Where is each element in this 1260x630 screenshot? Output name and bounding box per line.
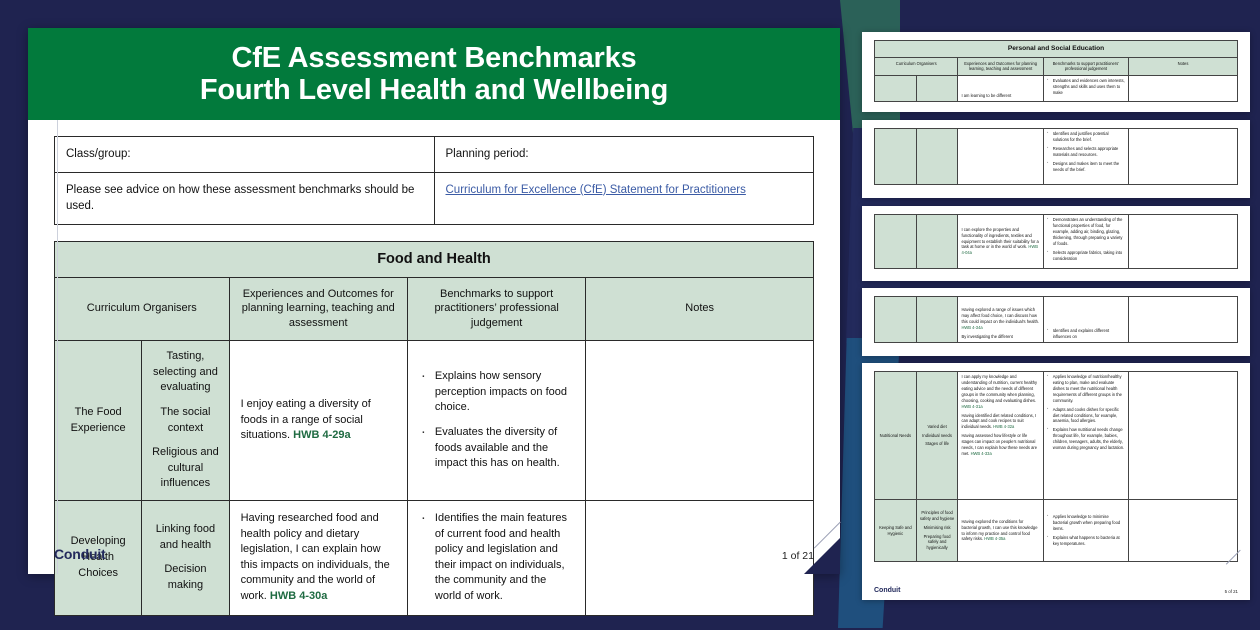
mini-table-row: I can explore the properties and functio…: [875, 215, 1238, 269]
mini-table-row: Identifies and justifies potential solut…: [875, 129, 1238, 185]
mini-table-row: Having explored a range of issues which …: [875, 297, 1238, 343]
mini-table: Nutritional Needs Varied diet Individual…: [874, 371, 1238, 562]
mini-experience: Having explored a range of issues which …: [958, 297, 1043, 343]
mini-notes: [1129, 297, 1238, 343]
mini-organiser: [875, 297, 917, 343]
page-thumbnail-stack: Personal and Social Education Curriculum…: [862, 10, 1250, 600]
mini-page-footer: Conduit 5 of 21: [874, 587, 1238, 594]
experience-code: HWB 4-30a: [270, 590, 327, 602]
section-title: Food and Health: [55, 242, 814, 278]
page-fragment[interactable]: Having explored a range of issues which …: [862, 288, 1250, 356]
page-fragment[interactable]: Personal and Social Education Curriculum…: [862, 32, 1250, 112]
mini-benchmark-item: Applies knowledge of nutrition/healthy e…: [1047, 374, 1125, 404]
mini-benchmark-item: Evaluates and evidences own interests, s…: [1047, 78, 1125, 96]
mini-experience-code: HWB 4-32a: [993, 424, 1014, 429]
mini-notes: [1129, 372, 1238, 500]
sub-organiser-item: Tasting, selecting and evaluating: [148, 349, 222, 396]
mini-experience-text-2: By investigating the different: [961, 334, 1039, 340]
mini-experience-code: HWB 4-34a: [961, 325, 982, 330]
advice-cell: Please see advice on how these assessmen…: [55, 172, 435, 224]
mini-experience-code: HWB 4-35a: [984, 536, 1005, 541]
mini-table: Identifies and justifies potential solut…: [874, 128, 1238, 185]
mini-benchmark-item: Identifies and explains different influe…: [1047, 328, 1125, 340]
link-cell: Curriculum for Excellence (CfE) Statemen…: [434, 172, 814, 224]
sub-organiser-item: Decision making: [148, 562, 222, 593]
mini-benchmark-item: Designs and makes item to meet the needs…: [1047, 161, 1125, 173]
col-header-experiences: Experiences and Outcomes for planning le…: [229, 277, 407, 341]
table-row: The Food Experience Tasting, selecting a…: [55, 341, 814, 501]
title-banner: CfE Assessment Benchmarks Fourth Level H…: [28, 28, 840, 120]
mini-benchmark-item: Applies knowledge to minimise bacterial …: [1047, 514, 1125, 532]
mini-experience: I am learning to be different: [958, 75, 1043, 101]
cfe-statement-link[interactable]: Curriculum for Excellence (CfE) Statemen…: [446, 184, 746, 196]
mini-sub-item: Principles of food safety and hygiene: [920, 510, 955, 522]
page-fragment[interactable]: I can explore the properties and functio…: [862, 206, 1250, 281]
mini-sub-item: Varied diet: [920, 424, 955, 430]
mini-notes: [1129, 215, 1238, 269]
mini-col-notes: Notes: [1129, 57, 1238, 75]
mini-experience-code: HWB 4-31a: [961, 404, 982, 409]
mini-benchmark-item: Selects appropriate fabrics, taking into…: [1047, 250, 1125, 262]
mini-benchmark-item: Researches and selects appropriate mater…: [1047, 146, 1125, 158]
mini-benchmark-item: Demonstrates an understanding of the fun…: [1047, 217, 1125, 247]
row-notes[interactable]: [586, 341, 814, 501]
mini-sub-organisers: Principles of food safety and hygiene Mi…: [916, 500, 958, 562]
mini-sub-item: Minimising risk: [920, 525, 955, 531]
page-fragment[interactable]: Identifies and justifies potential solut…: [862, 120, 1250, 198]
mini-experience-code: HWB 4-33a: [971, 451, 992, 456]
document-page-1: CfE Assessment Benchmarks Fourth Level H…: [28, 28, 840, 574]
advice-text: Please see advice on how these assessmen…: [66, 184, 414, 213]
mini-experience-text: I can apply my knowledge and understandi…: [961, 374, 1037, 403]
mini-sub-organisers: Varied diet Individual needs Stages of l…: [916, 372, 958, 500]
row-experience: I enjoy eating a diversity of foods in a…: [229, 341, 407, 501]
mini-benchmark-item: Adapts and cooks dishes for specific die…: [1047, 407, 1125, 425]
mini-notes: [1129, 500, 1238, 562]
mini-sub-item: Preparing food safely and hygienically: [920, 534, 955, 552]
mini-table: I can explore the properties and functio…: [874, 214, 1238, 269]
class-group-cell: Class/group:: [55, 137, 435, 173]
mini-benchmarks: Evaluates and evidences own interests, s…: [1043, 75, 1128, 101]
mini-benchmarks: Applies knowledge of nutrition/healthy e…: [1043, 372, 1128, 500]
page-number: 1 of 21: [782, 550, 814, 562]
mini-table-row: I am learning to be different Evaluates …: [875, 75, 1238, 101]
mini-table: Having explored a range of issues which …: [874, 296, 1238, 343]
mini-benchmarks: Identifies and justifies potential solut…: [1043, 129, 1128, 185]
mini-sub-organiser: [916, 215, 958, 269]
mini-benchmark-item: Identifies and justifies potential solut…: [1047, 131, 1125, 143]
mini-sub-organiser: [916, 129, 958, 185]
mini-notes: [1129, 129, 1238, 185]
mini-organiser: [875, 215, 917, 269]
mini-benchmarks: Applies knowledge to minimise bacterial …: [1043, 500, 1128, 562]
brand-logo: Conduit: [54, 546, 105, 562]
col-header-notes: Notes: [586, 277, 814, 341]
row-sub-organisers: Tasting, selecting and evaluating The so…: [142, 341, 229, 501]
page-footer: Conduit 1 of 21: [54, 546, 814, 562]
mini-sub-organiser: [916, 75, 958, 101]
page-margin-rule: [57, 120, 58, 574]
mini-experience: Having explored the conditions for bacte…: [958, 500, 1043, 562]
mini-sub-organiser: [916, 297, 958, 343]
col-header-benchmarks: Benchmarks to support practitioners’ pro…: [407, 277, 585, 341]
col-header-organisers: Curriculum Organisers: [55, 277, 230, 341]
row-organiser: The Food Experience: [55, 341, 142, 501]
mini-benchmarks: Demonstrates an understanding of the fun…: [1043, 215, 1128, 269]
page-title-line-1: CfE Assessment Benchmarks: [200, 42, 668, 74]
mini-sub-item: Individual needs: [920, 433, 955, 439]
mini-organiser: [875, 75, 917, 101]
page-title-line-2: Fourth Level Health and Wellbeing: [200, 74, 668, 106]
mini-benchmarks: Identifies and explains different influe…: [1043, 297, 1128, 343]
mini-page-number: 5 of 21: [1225, 589, 1238, 594]
mini-experience: I can explore the properties and functio…: [958, 215, 1043, 269]
benchmark-item: Explains how sensory perception impacts …: [419, 369, 574, 416]
mini-experience: I can apply my knowledge and understandi…: [958, 372, 1043, 500]
mini-table: Personal and Social Education Curriculum…: [874, 40, 1238, 102]
page-title: CfE Assessment Benchmarks Fourth Level H…: [200, 42, 668, 107]
class-planning-table: Class/group: Planning period: Please see…: [54, 136, 814, 225]
row-benchmarks: Explains how sensory perception impacts …: [407, 341, 585, 501]
sub-organiser-item: Religious and cultural influences: [148, 445, 222, 492]
mini-notes: [1129, 75, 1238, 101]
mini-organiser: Nutritional Needs: [875, 372, 917, 500]
mini-benchmark-item: Explains what happens to bacteria at key…: [1047, 535, 1125, 547]
page-fragment[interactable]: Nutritional Needs Varied diet Individual…: [862, 363, 1250, 600]
sub-organiser-item: The social context: [148, 405, 222, 436]
planning-period-label: Planning period:: [446, 148, 529, 160]
mini-col-experiences: Experiences and Outcomes for planning le…: [958, 57, 1043, 75]
mini-experience: [958, 129, 1043, 185]
page-content: Class/group: Planning period: Please see…: [28, 120, 840, 574]
screenshot-root: CfE Assessment Benchmarks Fourth Level H…: [0, 0, 1260, 630]
mini-experience-text: Having explored a range of issues which …: [961, 307, 1039, 324]
mini-organiser: [875, 129, 917, 185]
mini-section-title: Personal and Social Education: [875, 41, 1238, 58]
mini-col-benchmarks: Benchmarks to support practitioners’ pro…: [1043, 57, 1128, 75]
experience-code: HWB 4-29a: [293, 429, 350, 441]
mini-benchmark-item: Explains how nutritional needs change th…: [1047, 427, 1125, 451]
mini-table-row: Keeping Safe and Hygienic Principles of …: [875, 500, 1238, 562]
mini-table-row: Nutritional Needs Varied diet Individual…: [875, 372, 1238, 500]
mini-sub-item: Stages of life: [920, 441, 955, 447]
benchmark-item: Evaluates the diversity of foods availab…: [419, 425, 574, 472]
planning-period-cell: Planning period:: [434, 137, 814, 173]
mini-brand-logo: Conduit: [874, 587, 900, 594]
mini-organiser: Keeping Safe and Hygienic: [875, 500, 917, 562]
class-group-label: Class/group:: [66, 148, 131, 160]
mini-col-organisers: Curriculum Organisers: [875, 57, 958, 75]
